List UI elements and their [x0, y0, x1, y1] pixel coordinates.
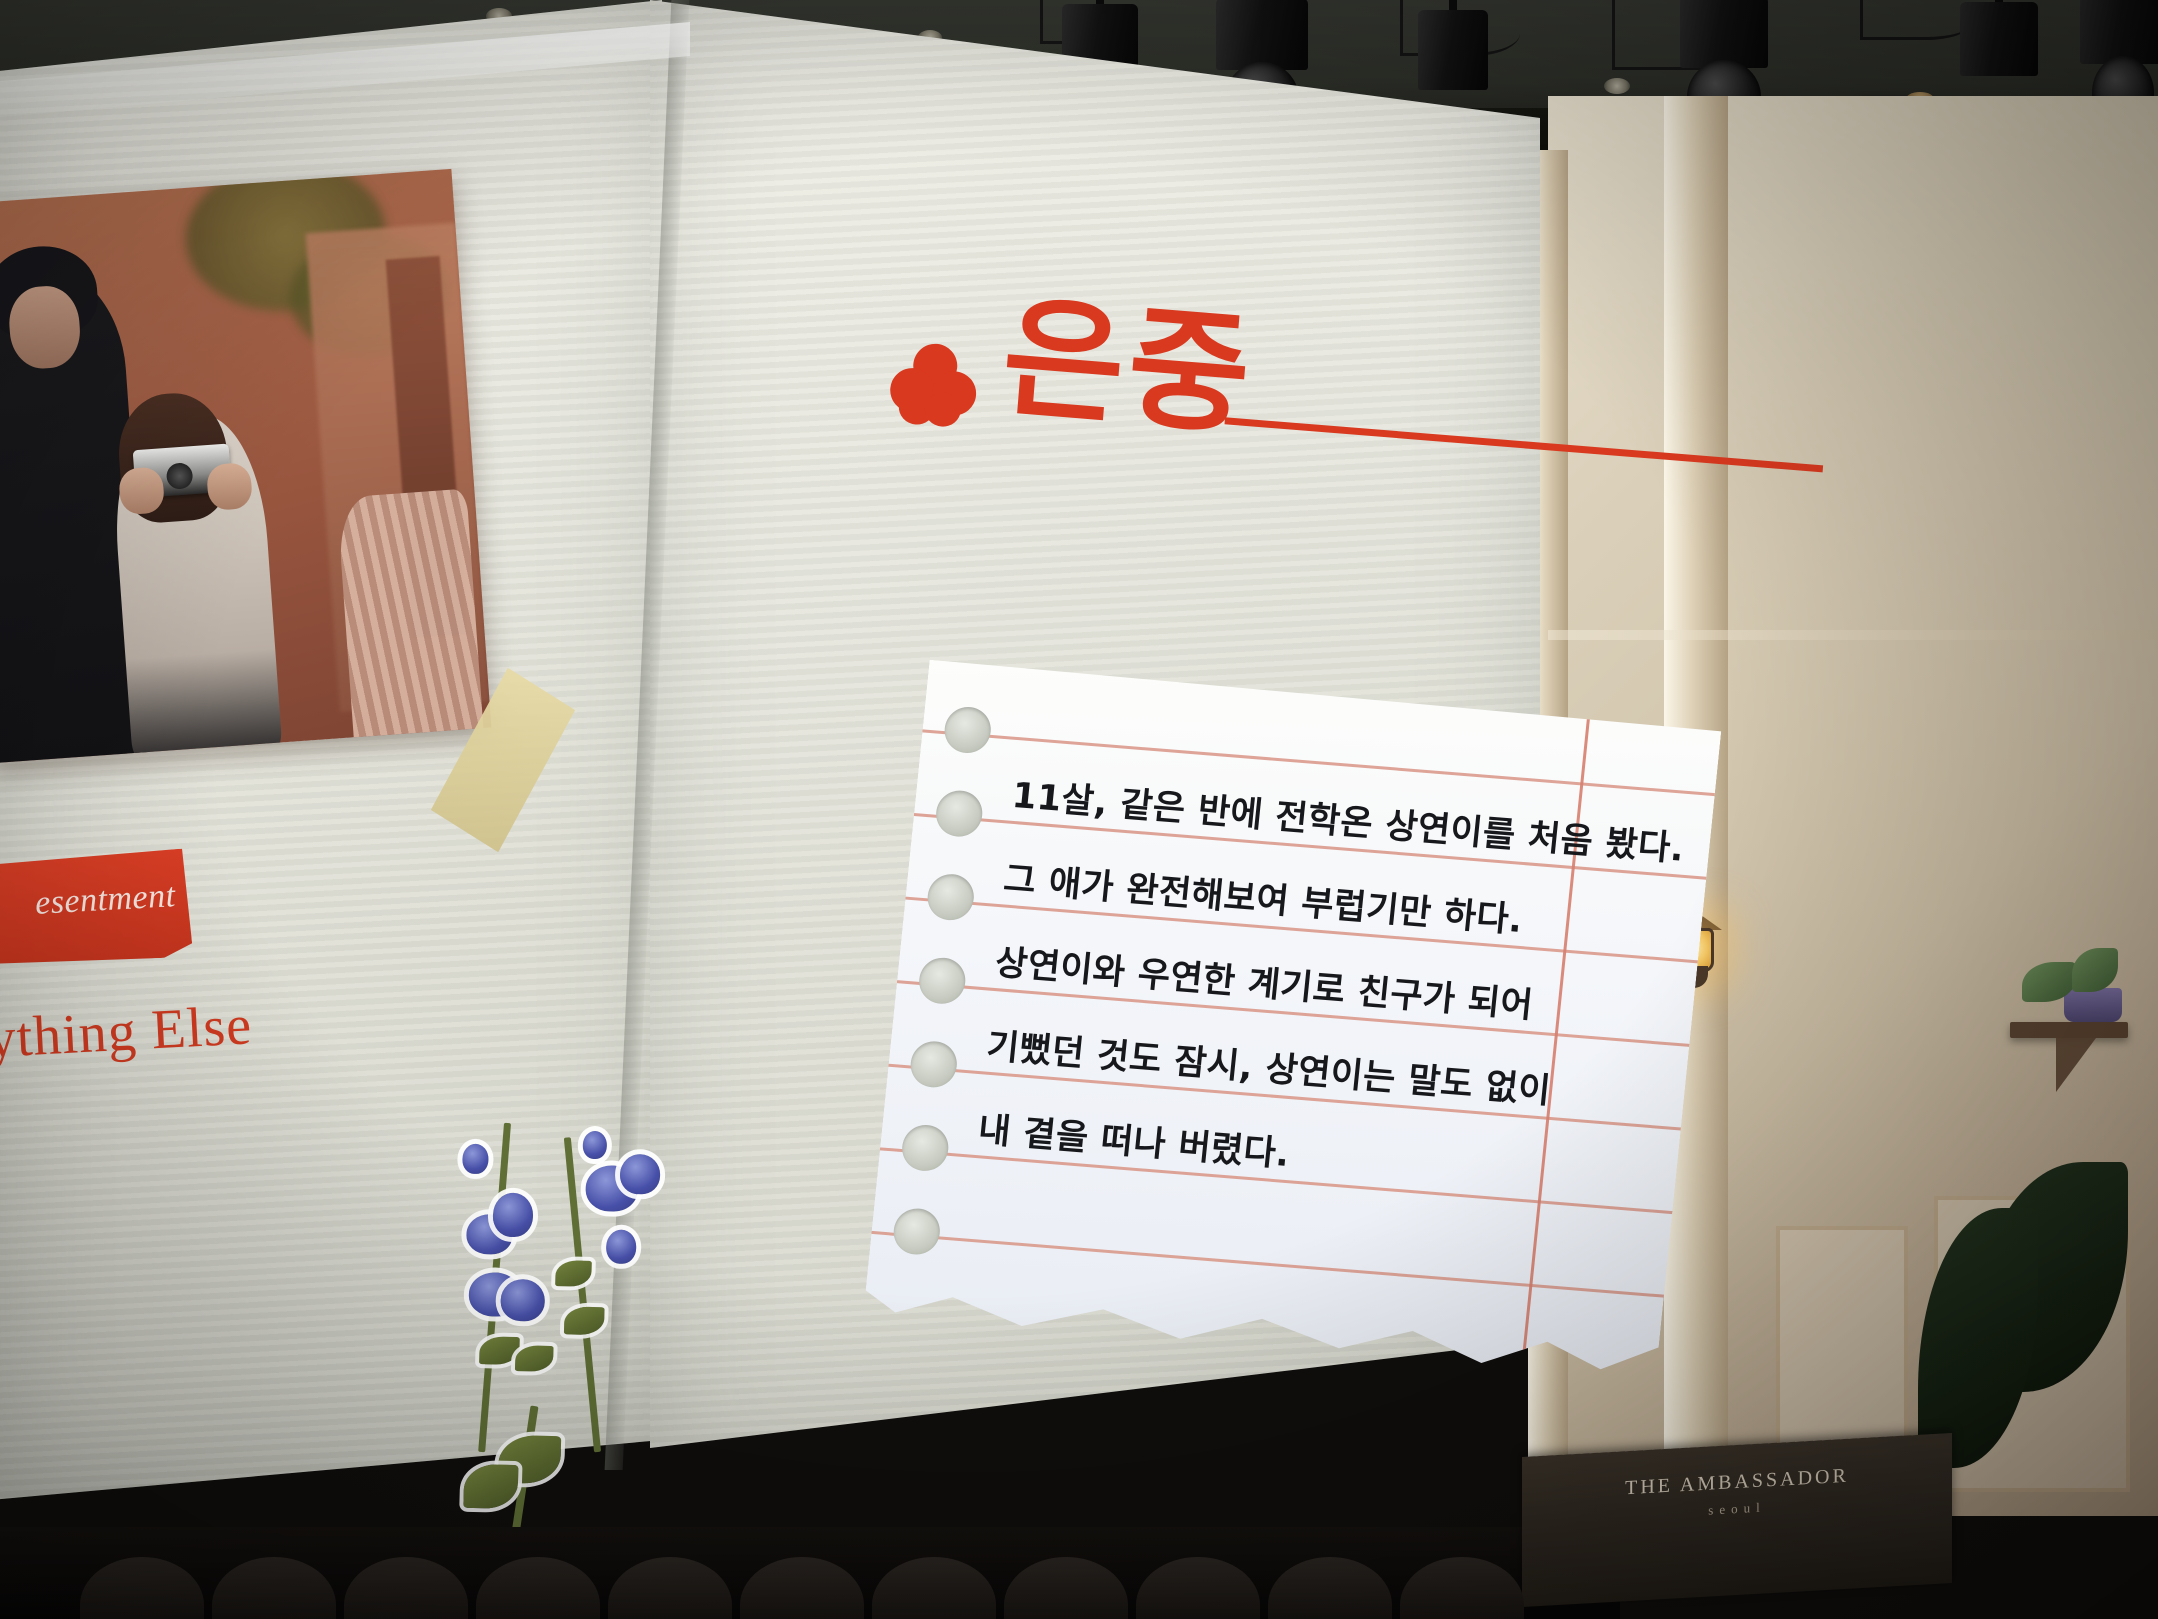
page-title: 은중	[998, 291, 1259, 443]
projection-screen: esentment erything Else	[0, 0, 1520, 1520]
note-line: 상연이와 우연한 계기로 친구가 되어	[993, 934, 1536, 1028]
decor-shelf	[2010, 1022, 2128, 1038]
pressed-flower-sticker	[422, 1087, 684, 1573]
plum-blossom-icon	[888, 340, 980, 427]
lectern: THE AMBASSADOR seoul	[1522, 1433, 1952, 1607]
note-line: 내 곁을 떠나 버렸다.	[976, 1101, 1292, 1177]
resentment-banner: esentment	[0, 848, 193, 969]
wall-trim	[1548, 630, 2158, 640]
rig-cable	[1860, 0, 1970, 40]
note-line: 기뻤던 것도 잠시, 상연이는 말도 없이	[985, 1018, 1554, 1114]
potted-plant-icon	[2064, 988, 2122, 1022]
notepad: 11살, 같은 반에 전학온 상연이를 처음 봤다. 그 애가 완전해보여 부럽…	[863, 660, 1722, 1381]
slide-photo	[0, 169, 491, 763]
ceiling-downlight	[1604, 78, 1630, 94]
banner-label: esentment	[0, 877, 177, 928]
venue-scene: esentment erything Else	[0, 0, 2158, 1619]
note-line: 그 애가 완전해보여 부럽기만 하다.	[1002, 851, 1526, 943]
